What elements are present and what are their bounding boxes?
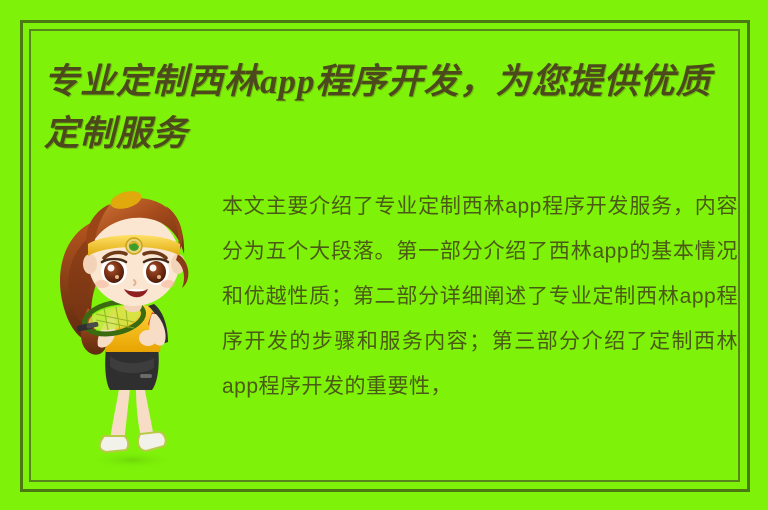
article-summary-text: 本文主要介绍了专业定制西林app程序开发服务，内容分为五个大段落。第一部分介绍了… [222, 184, 738, 409]
ground-shadow [90, 451, 174, 469]
page-title: 专业定制西林app程序开发，为您提供优质定制服务 [44, 56, 734, 160]
shoes [100, 432, 166, 452]
poster-page: 专业定制西林app程序开发，为您提供优质定制服务 本文主要介绍了专业定制西林ap… [0, 0, 768, 510]
chibi-badminton-girl-illustration [48, 188, 213, 470]
chibi-girl-svg [48, 188, 213, 470]
skirt [105, 346, 159, 390]
head [83, 188, 188, 306]
